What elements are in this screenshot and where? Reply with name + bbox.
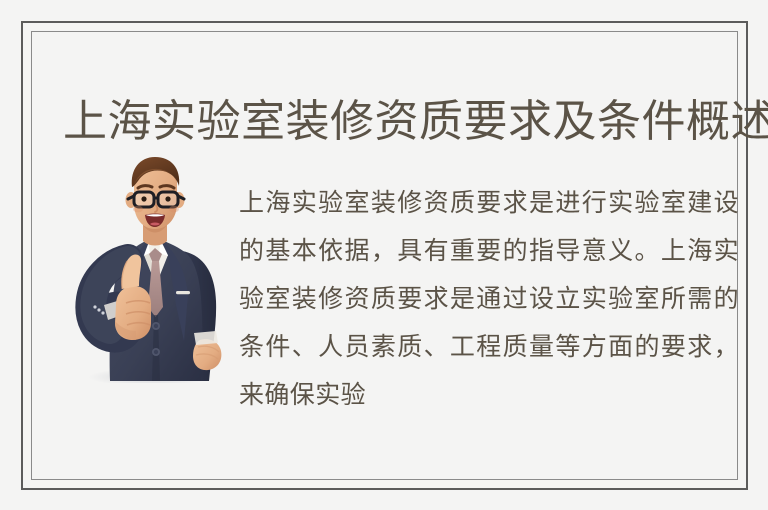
businessman-thumbs-up-icon (64, 155, 229, 383)
right-hand-icon (193, 331, 221, 370)
content-row: 上海实验室装修资质要求是进行实验室建设的基本依据，具有重要的指导意义。上海实验室… (32, 136, 737, 479)
body-paragraph: 上海实验室装修资质要求是进行实验室建设的基本依据，具有重要的指导意义。上海实验室… (239, 179, 739, 419)
content-card-inner-border: 上海实验室装修资质要求及条件概述 (31, 31, 738, 480)
content-card: 上海实验室装修资质要求及条件概述 (21, 21, 748, 490)
businessman-thumbs-up-illustration (64, 155, 229, 383)
